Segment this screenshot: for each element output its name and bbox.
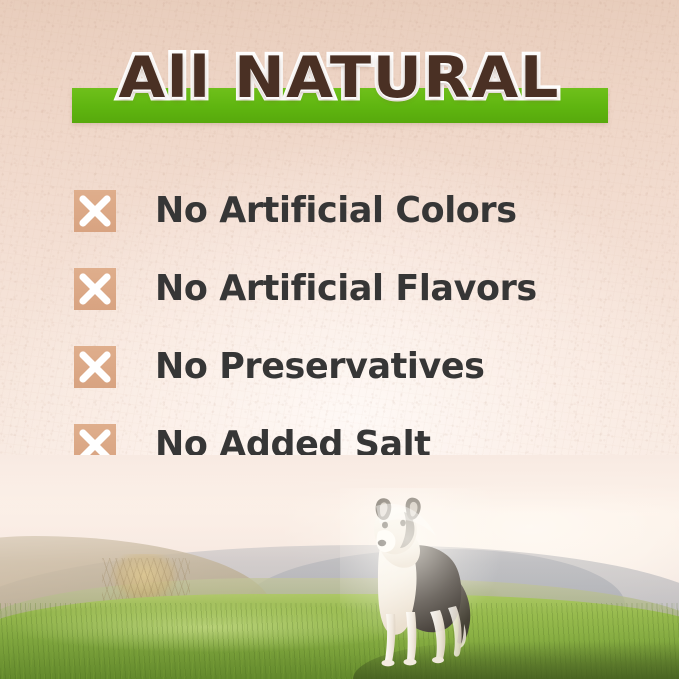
list-item: No Artificial Colors [0,172,679,250]
landscape-photo [0,455,679,679]
x-mark-icon [74,190,116,232]
claims-list: No Artificial Colors No Artificial Flavo… [0,172,679,484]
list-item: No Artificial Flavors [0,250,679,328]
headline-banner: All NATURAL [0,47,679,129]
dog-illustration [352,496,484,672]
claim-label: No Artificial Flavors [155,268,537,310]
x-mark-icon [74,346,116,388]
claim-label: No Preservatives [155,346,485,388]
page-title: All NATURAL [119,47,560,109]
claim-label: No Artificial Colors [155,190,517,232]
list-item: No Preservatives [0,328,679,406]
headline-text-container: All NATURAL [0,47,679,109]
product-feature-poster: All NATURAL No Artificial Colors [0,0,679,679]
photo-top-blend [0,455,679,513]
x-mark-icon [74,268,116,310]
